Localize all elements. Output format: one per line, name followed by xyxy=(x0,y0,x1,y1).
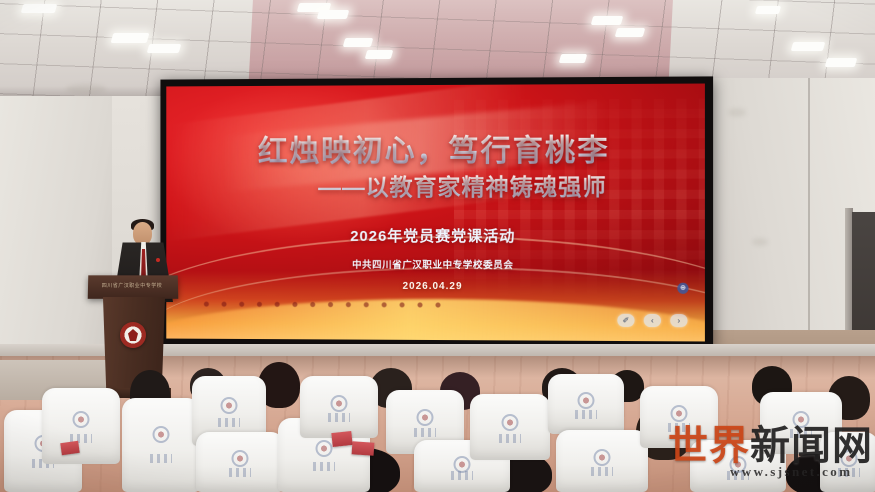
slide-text-block: 红烛映初心，笃行育桃李 ——以教育家精神铸魂强师 2026年党员赛党课活动 中共… xyxy=(166,84,705,342)
ceiling-lamp xyxy=(755,6,781,14)
ceiling-lamp xyxy=(825,58,858,67)
audience-seat xyxy=(640,386,718,448)
ceiling-lamp xyxy=(559,54,588,63)
audience-seat xyxy=(470,394,550,460)
audience-seat xyxy=(556,430,648,492)
audience-seat xyxy=(548,374,624,434)
ceiling-lamp xyxy=(343,38,374,47)
red-booklet xyxy=(60,441,79,455)
podium-name-plate: 四川省广汉职业中专学校 xyxy=(92,281,172,292)
ceiling-lamp xyxy=(615,28,646,37)
audience-seat xyxy=(122,398,200,492)
slide-event-line: 2026年党员赛党课活动 xyxy=(166,225,705,247)
audience-seat xyxy=(196,432,284,492)
wall-mark xyxy=(752,238,768,246)
wall-mark xyxy=(66,84,106,94)
prev-slide-icon[interactable]: ‹ xyxy=(644,314,661,327)
red-booklet xyxy=(331,431,352,447)
audience-seat xyxy=(820,432,875,492)
pen-icon[interactable]: ✐ xyxy=(617,314,634,327)
slide-notification-badge[interactable]: ⊕ xyxy=(677,283,688,294)
slide-surface: 红烛映初心，笃行育桃李 ——以教育家精神铸魂强师 2026年党员赛党课活动 中共… xyxy=(166,84,705,342)
ceiling-lamp xyxy=(591,16,624,25)
ceiling-lamp xyxy=(111,33,150,43)
audience-seat xyxy=(300,376,378,438)
auditorium-photo: 红烛映初心，笃行育桃李 ——以教育家精神铸魂强师 2026年党员赛党课活动 中共… xyxy=(0,0,875,492)
red-booklet xyxy=(352,441,375,456)
next-slide-icon[interactable]: › xyxy=(670,314,687,327)
school-emblem-icon xyxy=(120,322,146,348)
presentation-controls[interactable]: ✐ ‹ › xyxy=(617,314,687,327)
ceiling-lamp xyxy=(317,10,350,19)
led-screen: 红烛映初心，笃行育桃李 ——以教育家精神铸魂强师 2026年党员赛党课活动 中共… xyxy=(160,76,713,349)
wall-mark xyxy=(728,108,746,117)
ceiling-lamp xyxy=(791,42,826,51)
ceiling-lamp xyxy=(147,44,182,53)
speaker-party-badge xyxy=(156,258,160,262)
ceiling-lamp xyxy=(365,50,394,59)
speaker-head xyxy=(133,222,152,245)
slide-title: 红烛映初心，笃行育桃李 xyxy=(166,125,705,171)
ceiling-lamp xyxy=(21,4,58,13)
slide-subtitle: ——以教育家精神铸魂强师 xyxy=(166,167,705,202)
audience-seat xyxy=(42,388,120,464)
slide-date: 2026.04.29 xyxy=(166,281,705,294)
slide-organization: 中共四川省广汉职业中专学校委员会 xyxy=(166,257,705,272)
